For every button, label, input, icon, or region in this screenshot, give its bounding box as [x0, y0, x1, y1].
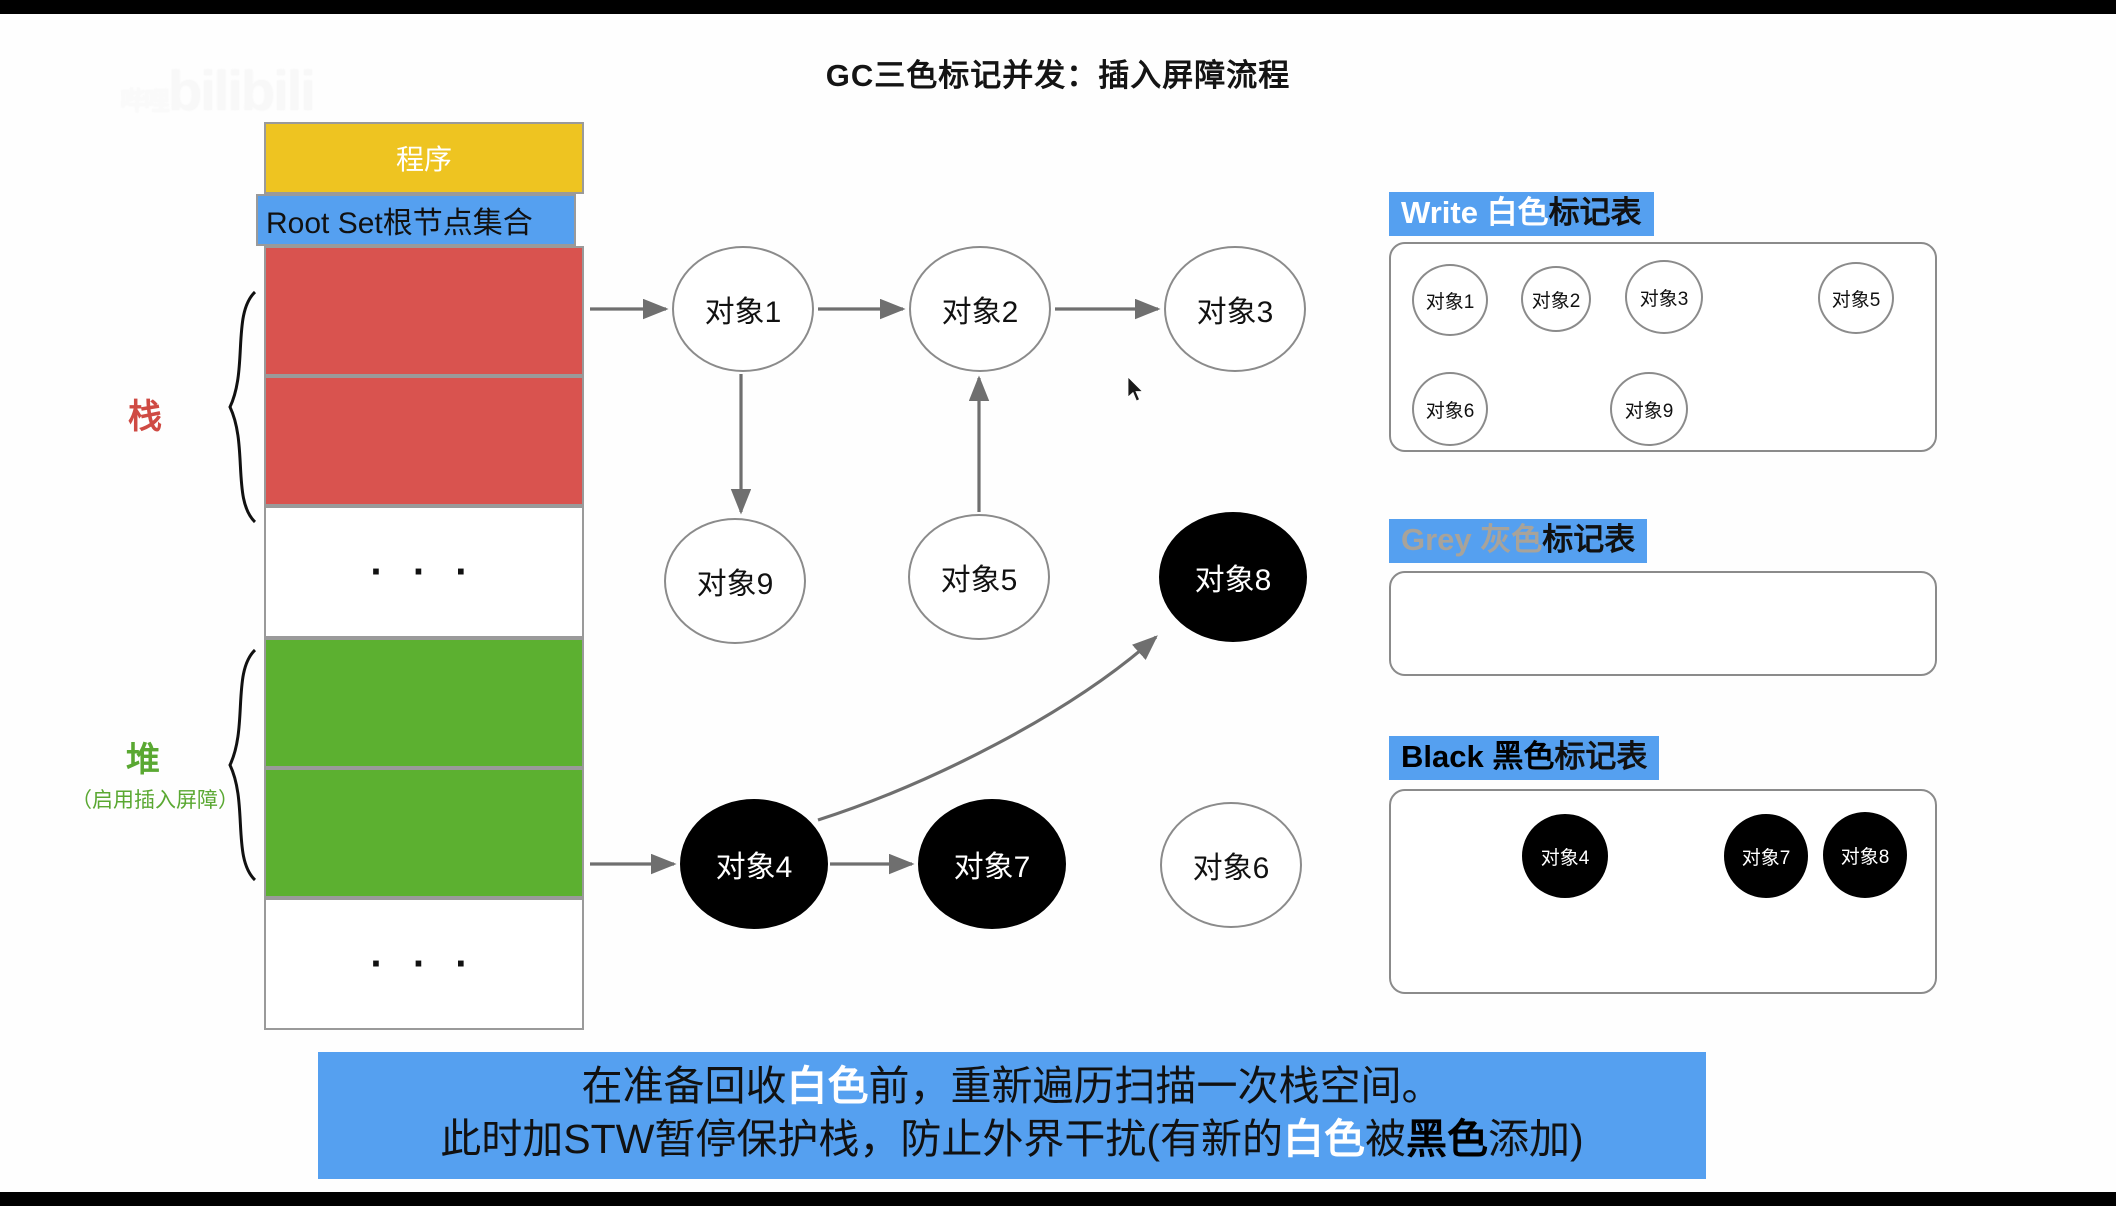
- caption-banner: 在准备回收白色前，重新遍历扫描一次栈空间。 此时加STW暂停保护栈，防止外界干扰…: [318, 1052, 1706, 1179]
- node-label: 对象7: [954, 842, 1031, 886]
- graph-node-obj6[interactable]: 对象6: [1160, 802, 1302, 928]
- caption-line-1: 在准备回收白色前，重新遍历扫描一次栈空间。: [318, 1060, 1706, 1113]
- video-frame: 哔哩bilibili GC三色标记并发：插入屏障流程 程序 Root Set根节…: [0, 0, 2116, 1206]
- node-label: 对象8: [1195, 555, 1272, 599]
- mouse-cursor-icon: [1126, 376, 1148, 404]
- graph-node-obj8[interactable]: 对象8: [1159, 512, 1307, 642]
- memory-column: 程序 Root Set根节点集合 · · · · · ·: [264, 122, 584, 1030]
- heap-sublabel: （启用插入屏障）: [40, 784, 270, 814]
- program-label: 程序: [396, 138, 452, 178]
- memory-cell-root-set: Root Set根节点集合: [256, 194, 576, 246]
- node-label: 对象2: [942, 287, 1019, 331]
- ellipsis-dots: · · ·: [370, 959, 477, 969]
- black-table-head-color: 黑色: [1492, 739, 1554, 774]
- memory-cell-program: 程序: [264, 122, 584, 194]
- graph-node-obj5[interactable]: 对象5: [908, 514, 1050, 640]
- node-label: 对象5: [941, 555, 1018, 599]
- memory-cell-heap-ellipsis: · · ·: [264, 898, 584, 1030]
- chip-label: 对象9: [1625, 396, 1674, 423]
- white-table-head-en: Write: [1401, 195, 1487, 230]
- stack-brace: [230, 292, 255, 522]
- white-table-chip-obj6[interactable]: 对象6: [1412, 372, 1488, 446]
- chip-label: 对象8: [1841, 842, 1890, 869]
- stack-label: 栈: [128, 389, 162, 438]
- memory-cell-stack-1: [264, 246, 584, 376]
- chip-label: 对象2: [1532, 286, 1581, 313]
- grey-table-head-color: 灰色: [1480, 522, 1542, 557]
- grey-table-head-en: Grey: [1401, 522, 1480, 557]
- chip-label: 对象6: [1426, 396, 1475, 423]
- heap-label: 堆: [126, 732, 160, 781]
- chip-label: 对象4: [1541, 843, 1590, 870]
- node-label: 对象9: [697, 559, 774, 603]
- caption-line1-white: 白色: [787, 1063, 869, 1109]
- root-set-label: Root Set根节点集合: [266, 198, 533, 242]
- caption-line1-b: 前，重新遍历扫描一次栈空间。: [869, 1063, 1443, 1109]
- memory-cell-stack-2: [264, 376, 584, 506]
- caption-line2-a: 此时加STW暂停保护栈，防止外界干扰(有新的: [440, 1116, 1283, 1162]
- edge-obj4-to-obj8: [818, 637, 1156, 820]
- letterbox-bottom: [0, 1192, 2116, 1206]
- grey-table: [1389, 571, 1937, 676]
- slide-canvas: 哔哩bilibili GC三色标记并发：插入屏障流程 程序 Root Set根节…: [0, 14, 2116, 1192]
- white-table-chip-obj3[interactable]: 对象3: [1625, 260, 1703, 334]
- black-table-head-en: Black: [1401, 739, 1492, 774]
- chip-label: 对象5: [1832, 285, 1881, 312]
- node-label: 对象1: [705, 287, 782, 331]
- ellipsis-dots: · · ·: [370, 567, 477, 577]
- white-table-header: Write 白色标记表: [1389, 192, 1654, 236]
- graph-node-obj9[interactable]: 对象9: [664, 518, 806, 644]
- caption-line1-a: 在准备回收: [582, 1063, 787, 1109]
- graph-node-obj3[interactable]: 对象3: [1164, 246, 1306, 372]
- memory-cell-heap-2: [264, 768, 584, 898]
- black-table-head-suffix: 标记表: [1554, 739, 1647, 774]
- black-table-header: Black 黑色标记表: [1389, 736, 1659, 780]
- white-table-chip-obj2[interactable]: 对象2: [1521, 266, 1591, 332]
- caption-line2-black: 黑色: [1406, 1116, 1488, 1162]
- graph-node-obj1[interactable]: 对象1: [672, 246, 814, 372]
- chip-label: 对象1: [1426, 287, 1475, 314]
- memory-cell-stack-ellipsis: · · ·: [264, 506, 584, 638]
- white-table-chip-obj9[interactable]: 对象9: [1610, 372, 1688, 446]
- white-table-chip-obj1[interactable]: 对象1: [1412, 264, 1488, 336]
- heap-brace: [230, 650, 255, 880]
- black-table-chip-obj4[interactable]: 对象4: [1522, 814, 1608, 898]
- node-label: 对象3: [1197, 287, 1274, 331]
- node-label: 对象6: [1193, 843, 1270, 887]
- page-title: GC三色标记并发：插入屏障流程: [0, 50, 2116, 95]
- node-label: 对象4: [716, 842, 793, 886]
- black-table-chip-obj7[interactable]: 对象7: [1724, 814, 1808, 898]
- memory-cell-heap-1: [264, 638, 584, 768]
- caption-line-2: 此时加STW暂停保护栈，防止外界干扰(有新的白色被黑色添加): [318, 1113, 1706, 1166]
- grey-table-header: Grey 灰色标记表: [1389, 519, 1647, 563]
- black-table-chip-obj8[interactable]: 对象8: [1823, 812, 1907, 898]
- white-table-head-color: 白色: [1487, 195, 1549, 230]
- graph-node-obj4[interactable]: 对象4: [680, 799, 828, 929]
- chip-label: 对象7: [1742, 843, 1791, 870]
- chip-label: 对象3: [1640, 284, 1689, 311]
- grey-table-head-suffix: 标记表: [1542, 522, 1635, 557]
- white-table-head-suffix: 标记表: [1549, 195, 1642, 230]
- white-table-chip-obj5[interactable]: 对象5: [1818, 262, 1894, 334]
- caption-line2-b: 添加): [1488, 1116, 1584, 1162]
- caption-line2-mid: 被: [1365, 1116, 1406, 1162]
- caption-line2-white: 白色: [1283, 1116, 1365, 1162]
- graph-node-obj7[interactable]: 对象7: [918, 799, 1066, 929]
- graph-node-obj2[interactable]: 对象2: [909, 246, 1051, 372]
